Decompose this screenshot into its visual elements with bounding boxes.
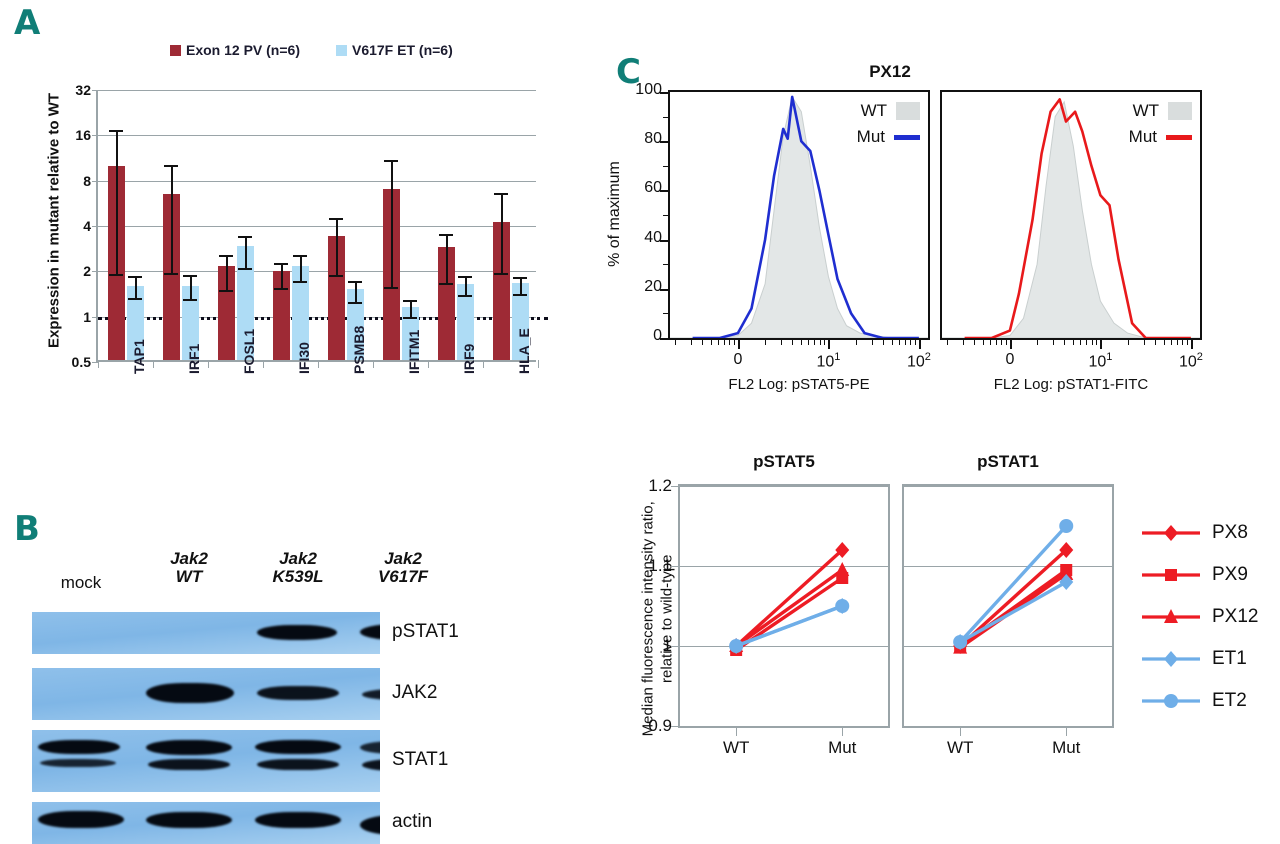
flow-y-minor-tick (663, 166, 668, 167)
error-bar-cap (348, 302, 362, 304)
flow-y-tick-label: 60 (628, 179, 662, 197)
flow-x-minor-tick (1092, 340, 1093, 345)
error-bar-cap (384, 160, 398, 162)
flow-histogram-2: WTMut (940, 90, 1202, 340)
x-axis-tick-mark (263, 360, 264, 368)
line-chart-x-tick-label: Mut (1052, 738, 1080, 758)
panel-a: A Exon 12 PV (n=6) V617F ET (n=6) Expres… (0, 0, 560, 470)
blot-band (146, 812, 232, 828)
line-chart-x-tick-mark (1066, 728, 1067, 736)
error-bar-cap (128, 276, 142, 278)
flow-x-minor-tick (808, 340, 809, 345)
flow-x-minor-tick (856, 340, 857, 345)
y-axis-tick-label: 32 (75, 82, 91, 98)
x-axis-tick-mark (428, 360, 429, 368)
gridline (680, 726, 888, 727)
data-point-marker-triangle (835, 562, 849, 576)
error-bar-cap (458, 295, 472, 297)
flow-x-minor-tick (734, 340, 735, 345)
flow-x-major-tick (1100, 340, 1102, 349)
blot-band (40, 759, 116, 767)
flow-legend-label-wt: WT (1133, 101, 1159, 121)
flow-x-minor-tick (1187, 340, 1188, 345)
flow-x-minor-tick (996, 340, 997, 345)
legend-swatch-icon (170, 45, 181, 56)
flow-x-minor-tick (718, 340, 719, 345)
wt-swatch-icon (1168, 102, 1192, 120)
error-bar (446, 234, 448, 283)
flow-legend-row-wt: WT (857, 98, 920, 124)
error-bar (465, 276, 467, 295)
error-bar-cap (238, 268, 252, 270)
data-point-marker-circle (835, 599, 849, 613)
error-bar-cap (109, 274, 123, 276)
panel-a-legend: Exon 12 PV (n=6) V617F ET (n=6) (170, 42, 453, 58)
line-chart-x-tick-label: WT (947, 738, 973, 758)
flow-x-minor-tick (792, 340, 793, 345)
error-bar (336, 218, 338, 274)
line-chart-legend: PX8PX9PX12ET1ET2 (1140, 512, 1262, 722)
blot-row-label: STAT1 (392, 749, 448, 771)
error-bar-cap (128, 298, 142, 300)
error-bar-cap (403, 300, 417, 302)
flow-x-tick-label: 101 (1088, 351, 1112, 371)
flow-legend-2: WTMut (1129, 98, 1192, 150)
flow-x-minor-tick (1073, 340, 1074, 345)
mut-swatch-icon (1166, 135, 1192, 140)
blot-band (257, 759, 339, 770)
flow-x-minor-tick (990, 340, 991, 345)
x-axis-tick-mark (538, 360, 539, 368)
flow-x-major-tick (828, 340, 830, 349)
legend-row-et1: ET1 (1140, 638, 1262, 680)
flow-x-tick-label: 0 (1005, 351, 1014, 369)
line-chart-x-tick-label: Mut (828, 738, 856, 758)
legend-label: PX9 (1212, 564, 1262, 586)
data-point-marker-circle (953, 635, 967, 649)
y-axis-tick-mark (92, 271, 98, 272)
flow-y-minor-tick (663, 117, 668, 118)
lane-header-allele: V617F (360, 568, 446, 586)
error-bar (190, 275, 192, 298)
flow-x-minor-tick (1177, 340, 1178, 345)
error-bar (226, 255, 228, 290)
panel-a-y-axis-label: Expression in mutant relative to WT (46, 81, 63, 361)
error-bar-cap (494, 273, 508, 275)
legend-row-et2: ET2 (1140, 680, 1262, 722)
y-axis-tick-mark (92, 226, 98, 227)
legend-label: PX12 (1212, 606, 1262, 628)
flow-x-minor-tick (801, 340, 802, 345)
x-axis-tick-mark (483, 360, 484, 368)
error-bar (171, 165, 173, 273)
flow-x-minor-tick (963, 340, 964, 345)
error-bar-cap (513, 277, 527, 279)
line-series (904, 486, 1112, 726)
error-bar-cap (219, 255, 233, 257)
lane-header-2: Jak2K539L (255, 550, 341, 586)
flow-x-minor-tick (899, 340, 900, 345)
error-bar-cap (384, 287, 398, 289)
x-axis-tick-mark (208, 360, 209, 368)
flow-x-minor-tick (1144, 340, 1145, 345)
x-axis-tick-mark (153, 360, 154, 368)
blot-band (257, 686, 339, 700)
legend-label: PX8 (1212, 522, 1262, 544)
flow-x-minor-tick (765, 340, 766, 345)
line-chart-x-tick-mark (960, 728, 961, 736)
blot-band (360, 624, 380, 640)
line-series (680, 486, 888, 726)
line-chart-title-1: pSTAT5 (753, 452, 815, 472)
flow-y-tick-mark (660, 289, 668, 291)
blot-row-actin (32, 802, 380, 844)
y-axis-tick-label: 0.5 (72, 354, 91, 370)
panel-b: B mockJak2WTJak2K539LJak2V617FpSTAT1JAK2… (0, 490, 560, 832)
error-bar-cap (439, 234, 453, 236)
flow-y-tick-label: 20 (628, 278, 662, 296)
blot-band (38, 811, 124, 828)
flow-x-minor-tick (814, 340, 815, 345)
error-bar (410, 300, 412, 317)
legend-swatch-icon (336, 45, 347, 56)
flow-legend-row-mut: Mut (1129, 124, 1192, 150)
flow-x-tick-label: 102 (907, 351, 931, 371)
panel-b-letter: B (14, 512, 39, 546)
flow-x-minor-tick (1080, 340, 1081, 345)
legend-marker-icon (1140, 564, 1202, 586)
flow-x-minor-tick (883, 340, 884, 345)
lane-header-label: mock (61, 573, 102, 592)
flow-y-axis-label: % of maximum (606, 119, 624, 309)
line-chart-y-tick-mark (671, 646, 678, 647)
blot-row-label: actin (392, 811, 432, 833)
error-bar-cap (164, 165, 178, 167)
flow-x-minor-tick (892, 340, 893, 345)
lane-header-allele: K539L (255, 568, 341, 586)
flow-legend-label-wt: WT (861, 101, 887, 121)
flow-x-minor-tick (781, 340, 782, 345)
flow-x-minor-tick (711, 340, 712, 345)
line-chart-x-tick-label: WT (723, 738, 749, 758)
error-bar-cap (274, 263, 288, 265)
flow-x-minor-tick (1086, 340, 1087, 345)
error-bar-cap (238, 236, 252, 238)
panel-a-letter: A (14, 6, 39, 40)
flow-y-tick-label: 0 (628, 327, 662, 345)
y-axis-tick-mark (92, 90, 98, 91)
flow-x-minor-tick (1064, 340, 1065, 345)
line-chart-y-tick-label: 1.1 (632, 556, 672, 576)
line-chart-y-tick-label: 1 (632, 636, 672, 656)
line-chart-1 (678, 484, 890, 728)
legend-label: ET1 (1212, 648, 1262, 670)
flow-y-tick-mark (660, 141, 668, 143)
legend-marker-icon (1140, 648, 1202, 670)
line-chart-y-tick-mark (671, 726, 678, 727)
flow-x-minor-tick (905, 340, 906, 345)
line-chart-x-tick-mark (842, 728, 843, 736)
legend-item-exon12pv: Exon 12 PV (n=6) (170, 42, 300, 58)
line-chart-2 (902, 484, 1114, 728)
error-bar-cap (274, 288, 288, 290)
flow-x-minor-tick (915, 340, 916, 345)
flow-x-minor-tick (820, 340, 821, 345)
flow-y-minor-tick (663, 215, 668, 216)
error-bar-cap (348, 281, 362, 283)
y-axis-tick-mark (92, 135, 98, 136)
flow-x-minor-tick (983, 340, 984, 345)
line-chart-y-tick-mark (671, 486, 678, 487)
blot-band (146, 740, 232, 755)
flow-x-minor-tick (1164, 340, 1165, 345)
error-bar-cap (183, 275, 197, 277)
y-axis-tick-label: 1 (83, 309, 91, 325)
lane-header-1: Jak2WT (146, 550, 232, 586)
x-axis-category-label: PSMB8 (351, 326, 367, 374)
error-bar-cap (458, 276, 472, 278)
legend-label: Exon 12 PV (n=6) (186, 42, 300, 58)
blot-row-jak2 (32, 668, 380, 720)
x-axis-tick-mark (373, 360, 374, 368)
blot-band (255, 812, 341, 828)
lane-header-gene: Jak2 (360, 550, 446, 568)
series-line-PX12 (736, 570, 842, 646)
flow-x-minor-tick (724, 340, 725, 345)
series-line-PX8 (736, 550, 842, 646)
error-bar (355, 281, 357, 302)
flow-y-tick-mark (660, 338, 668, 340)
flow-x-minor-tick (1006, 340, 1007, 345)
error-bar-cap (513, 294, 527, 296)
flow-y-tick-label: 100 (628, 81, 662, 99)
line-chart-x-tick-mark (736, 728, 737, 736)
flow-legend-label-mut: Mut (1129, 127, 1157, 147)
flow-y-tick-label: 40 (628, 229, 662, 247)
legend-row-px9: PX9 (1140, 554, 1262, 596)
blot-band (360, 741, 380, 754)
legend-item-v617fet: V617F ET (n=6) (336, 42, 453, 58)
y-axis-tick-label: 16 (75, 127, 91, 143)
flow-x-axis-label-1: FL2 Log: pSTAT5-PE (668, 376, 930, 393)
gridline (904, 726, 1112, 727)
error-bar-cap (439, 283, 453, 285)
blot-band (362, 759, 380, 771)
error-bar-cap (494, 193, 508, 195)
data-point-marker-circle (729, 639, 743, 653)
flow-x-minor-tick (872, 340, 873, 345)
flow-y-tick-mark (660, 240, 668, 242)
lane-header-0: mock (38, 574, 124, 592)
x-axis-category-label: IFITM1 (406, 330, 422, 374)
line-chart-y-tick-mark (671, 566, 678, 567)
y-axis-tick-label: 8 (83, 173, 91, 189)
flow-y-minor-tick (663, 313, 668, 314)
flow-x-minor-tick (1096, 340, 1097, 345)
x-axis-category-label: TAP1 (131, 339, 147, 374)
legend-marker-icon (1140, 690, 1202, 712)
gridline (98, 181, 536, 182)
blot-row-stat1 (32, 730, 380, 792)
flow-chart-title: PX12 (869, 62, 911, 82)
flow-x-major-tick (1010, 340, 1012, 349)
blot-band (255, 740, 341, 754)
mut-swatch-icon (894, 135, 920, 140)
series-line-ET1 (960, 582, 1066, 642)
error-bar-cap (293, 255, 307, 257)
x-axis-category-label: HLA_E (516, 328, 532, 374)
flow-x-minor-tick (1128, 340, 1129, 345)
error-bar-cap (219, 290, 233, 292)
error-bar (520, 277, 522, 294)
x-axis-tick-mark (318, 360, 319, 368)
flow-x-minor-tick (1053, 340, 1054, 345)
flow-x-minor-tick (910, 340, 911, 345)
flow-legend-row-wt: WT (1129, 98, 1192, 124)
flow-legend-1: WTMut (857, 98, 920, 150)
error-bar (116, 130, 118, 274)
flow-x-tick-label: 0 (733, 351, 742, 369)
x-axis-category-label: IFI30 (296, 342, 312, 374)
error-bar (391, 160, 393, 287)
blot-row-pstat1 (32, 612, 380, 654)
flow-x-minor-tick (947, 340, 948, 345)
flow-x-tick-label: 102 (1179, 351, 1203, 371)
flow-y-tick-mark (660, 190, 668, 192)
line-chart-title-2: pSTAT1 (977, 452, 1039, 472)
wt-swatch-icon (896, 102, 920, 120)
flow-y-tick-label: 80 (628, 130, 662, 148)
flow-x-minor-tick (702, 340, 703, 345)
flow-x-major-tick (919, 340, 921, 349)
flow-x-minor-tick (1037, 340, 1038, 345)
error-bar (135, 276, 137, 298)
blot-band (257, 625, 337, 640)
flow-x-minor-tick (675, 340, 676, 345)
legend-marker-icon (1140, 606, 1202, 628)
error-bar (245, 236, 247, 268)
panel-c: C PX12 WTMut0101102FL2 Log: pSTAT5-PE100… (600, 0, 1280, 832)
error-bar-cap (164, 273, 178, 275)
flow-x-minor-tick (1171, 340, 1172, 345)
legend-row-px8: PX8 (1140, 512, 1262, 554)
blot-band (148, 759, 230, 770)
error-bar-cap (329, 218, 343, 220)
panel-a-plot-area: 0.512481632 (96, 90, 536, 362)
flow-x-axis-label-2: FL2 Log: pSTAT1-FITC (940, 376, 1202, 393)
x-axis-category-label: FOSL1 (241, 329, 257, 374)
lane-header-gene: Jak2 (146, 550, 232, 568)
error-bar-cap (293, 281, 307, 283)
lane-header-3: Jak2V617F (360, 550, 446, 586)
gridline (98, 135, 536, 136)
error-bar (281, 263, 283, 288)
flow-legend-row-mut: Mut (857, 124, 920, 150)
error-bar-cap (403, 317, 417, 319)
line-chart-y-tick-label: 1.2 (632, 476, 672, 496)
flow-x-major-tick (738, 340, 740, 349)
flow-x-minor-tick (691, 340, 692, 345)
error-bar-cap (329, 275, 343, 277)
legend-row-px12: PX12 (1140, 596, 1262, 638)
flow-x-tick-label: 101 (816, 351, 840, 371)
flow-y-minor-tick (663, 264, 668, 265)
flow-x-minor-tick (824, 340, 825, 345)
line-chart-y-tick-label: 0.9 (632, 716, 672, 736)
blot-row-label: JAK2 (392, 682, 437, 704)
flow-histogram-1: WTMut (668, 90, 930, 340)
x-axis-tick-mark (98, 360, 99, 368)
y-axis-tick-mark (92, 181, 98, 182)
flow-x-minor-tick (1001, 340, 1002, 345)
y-axis-tick-label: 2 (83, 263, 91, 279)
error-bar (300, 255, 302, 281)
error-bar-cap (109, 130, 123, 132)
blot-row-label: pSTAT1 (392, 621, 459, 643)
error-bar (501, 193, 503, 273)
lane-header-allele: WT (146, 568, 232, 586)
data-point-marker-circle (1059, 519, 1073, 533)
blot-band (146, 683, 234, 703)
flow-legend-label-mut: Mut (857, 127, 885, 147)
legend-label: V617F ET (n=6) (352, 42, 453, 58)
y-axis-tick-label: 4 (83, 218, 91, 234)
lane-header-gene: Jak2 (255, 550, 341, 568)
blot-band (362, 689, 380, 700)
blot-band (38, 740, 120, 754)
error-bar-cap (183, 299, 197, 301)
flow-x-minor-tick (974, 340, 975, 345)
x-axis-category-label: IRF9 (461, 344, 477, 374)
legend-label: ET2 (1212, 690, 1262, 712)
legend-marker-icon (1140, 522, 1202, 544)
flow-x-minor-tick (1155, 340, 1156, 345)
flow-x-minor-tick (1182, 340, 1183, 345)
flow-x-major-tick (1191, 340, 1193, 349)
flow-y-tick-mark (660, 92, 668, 94)
flow-x-minor-tick (729, 340, 730, 345)
gridline (98, 90, 536, 91)
x-axis-category-label: IRF1 (186, 344, 202, 374)
